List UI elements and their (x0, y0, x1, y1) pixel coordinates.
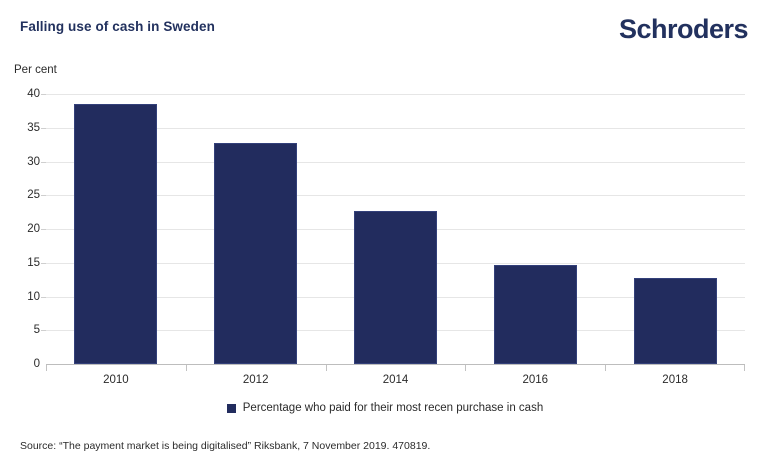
x-axis-tick-mark (46, 365, 47, 371)
x-axis-tick-label-2012: 2012 (243, 374, 269, 386)
y-axis-tick-label: 5 (6, 324, 40, 336)
source-note: Source: “The payment market is being dig… (20, 440, 430, 452)
y-axis-unit-label: Per cent (14, 64, 57, 76)
y-axis-tick-label: 20 (6, 223, 40, 235)
y-axis-tick-label: 15 (6, 257, 40, 269)
x-axis-tick-mark (465, 365, 466, 371)
y-axis-tick-label: 0 (6, 358, 40, 370)
x-axis-tick-mark (326, 365, 327, 371)
y-axis-tick-label: 25 (6, 189, 40, 201)
bar-2016 (494, 265, 577, 364)
x-axis-tick-mark (744, 365, 745, 371)
bar-2018 (634, 278, 717, 364)
x-axis-tick-label-2016: 2016 (523, 374, 549, 386)
bar-series-layer (46, 94, 745, 364)
page-title: Falling use of cash in Sweden (20, 19, 215, 34)
chart-legend: Percentage who paid for their most recen… (0, 402, 770, 414)
y-axis-tick-label: 40 (6, 88, 40, 100)
bar-2012 (214, 143, 297, 364)
x-axis-tick-label-2010: 2010 (103, 374, 129, 386)
y-axis-tick-label: 35 (6, 122, 40, 134)
legend-item-label: Percentage who paid for their most recen… (243, 402, 543, 414)
x-axis-tick-mark (605, 365, 606, 371)
legend-color-swatch-icon (227, 404, 236, 413)
bar-2010 (74, 104, 157, 364)
chart-header: Falling use of cash in Sweden Schroders (0, 0, 770, 56)
y-axis-tick-label: 10 (6, 291, 40, 303)
y-axis-tick-label: 30 (6, 156, 40, 168)
y-axis-tick-labels: 0510152025303540 (0, 94, 40, 364)
bar-2014 (354, 211, 437, 364)
x-axis-tick-label-2018: 2018 (662, 374, 688, 386)
x-axis-tick-mark (186, 365, 187, 371)
schroders-logo: Schroders (619, 16, 748, 43)
x-axis-tick-label-2014: 2014 (383, 374, 409, 386)
x-axis: 20102012201420162018 (46, 365, 745, 391)
